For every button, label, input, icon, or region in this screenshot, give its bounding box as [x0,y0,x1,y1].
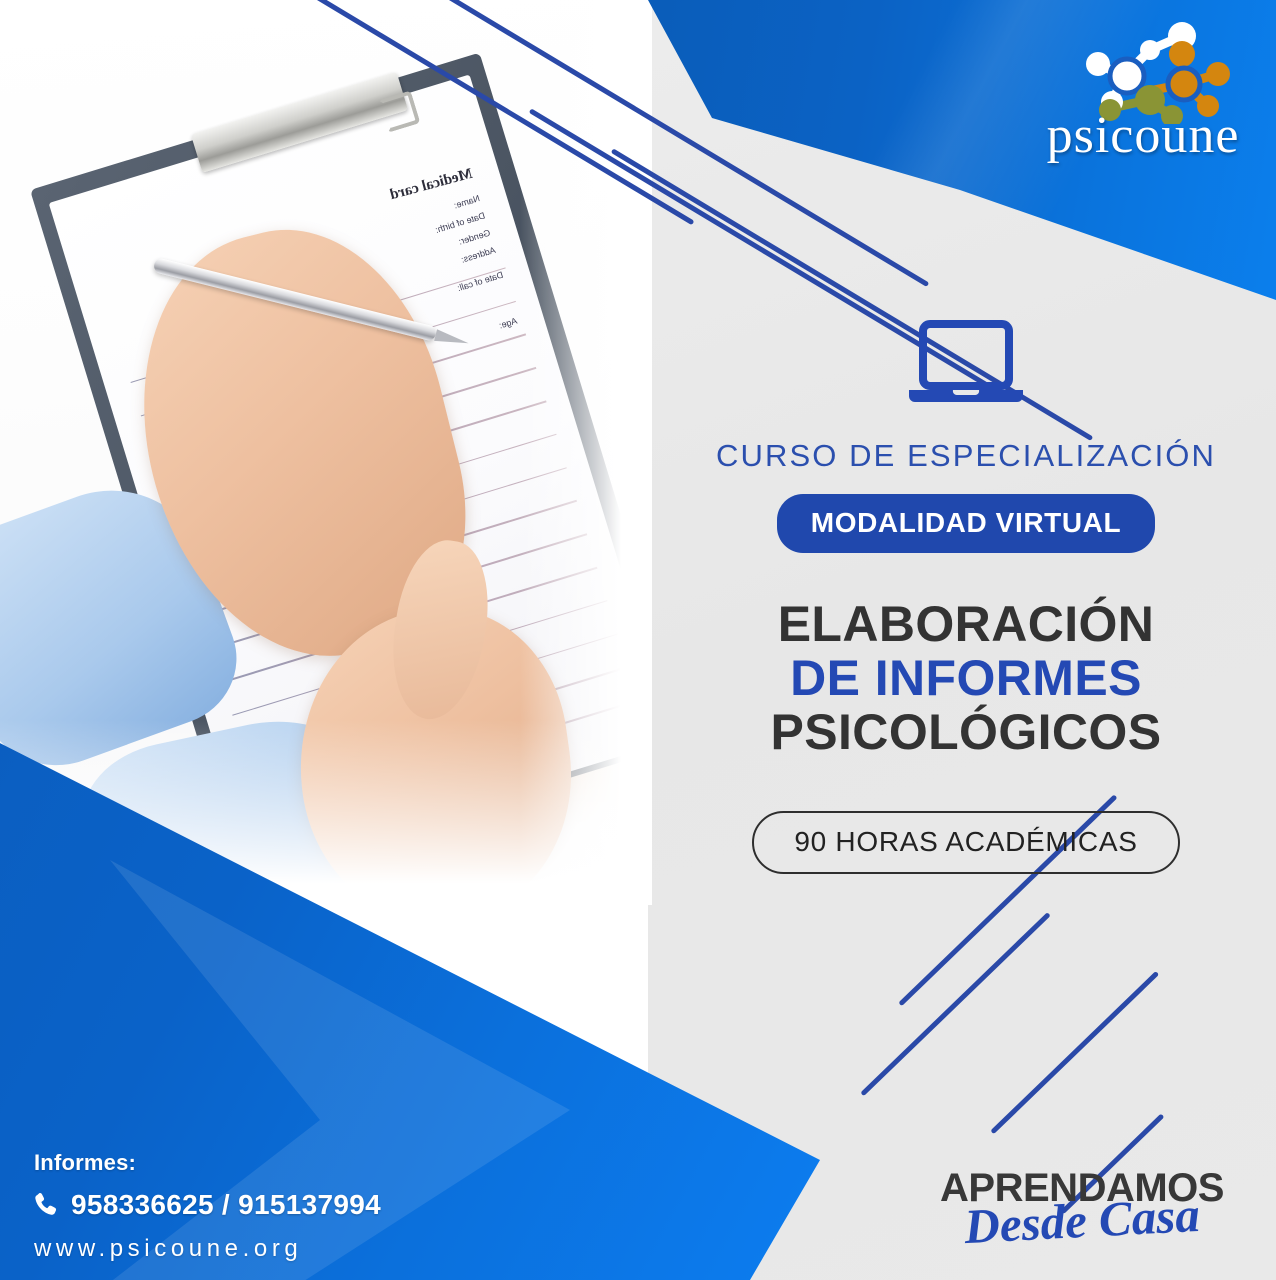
contact-footer: Informes: 958336625 / 915137994 www.psic… [34,1150,464,1263]
course-title: ELABORACIÓN DE INFORMES PSICOLÓGICOS [660,597,1272,759]
academic-hours-badge: 90 HORAS ACADÉMICAS [752,811,1179,874]
phone-numbers: 958336625 / 915137994 [71,1189,381,1221]
website-url[interactable]: www.psicoune.org [34,1235,464,1263]
informes-label: Informes: [34,1150,464,1176]
logo-wordmark: psicoune [1032,110,1254,162]
title-line-3: PSICOLÓGICOS [660,705,1272,759]
phone-icon [34,1192,58,1218]
modality-badge: MODALIDAD VIRTUAL [777,494,1155,553]
course-info-block: CURSO DE ESPECIALIZACIÓN MODALIDAD VIRTU… [660,320,1272,874]
title-line-2: DE INFORMES [660,651,1272,705]
slogan-block: APRENDAMOS Desde Casa [912,1168,1252,1268]
course-eyebrow: CURSO DE ESPECIALIZACIÓN [660,438,1272,474]
phone-row[interactable]: 958336625 / 915137994 [34,1189,464,1221]
promotional-poster: Medical card Name: Date of birth: Gender… [0,0,1276,1280]
title-line-1: ELABORACIÓN [660,597,1272,651]
laptop-icon [907,320,1025,406]
brand-logo[interactable]: psicoune [1032,14,1254,164]
